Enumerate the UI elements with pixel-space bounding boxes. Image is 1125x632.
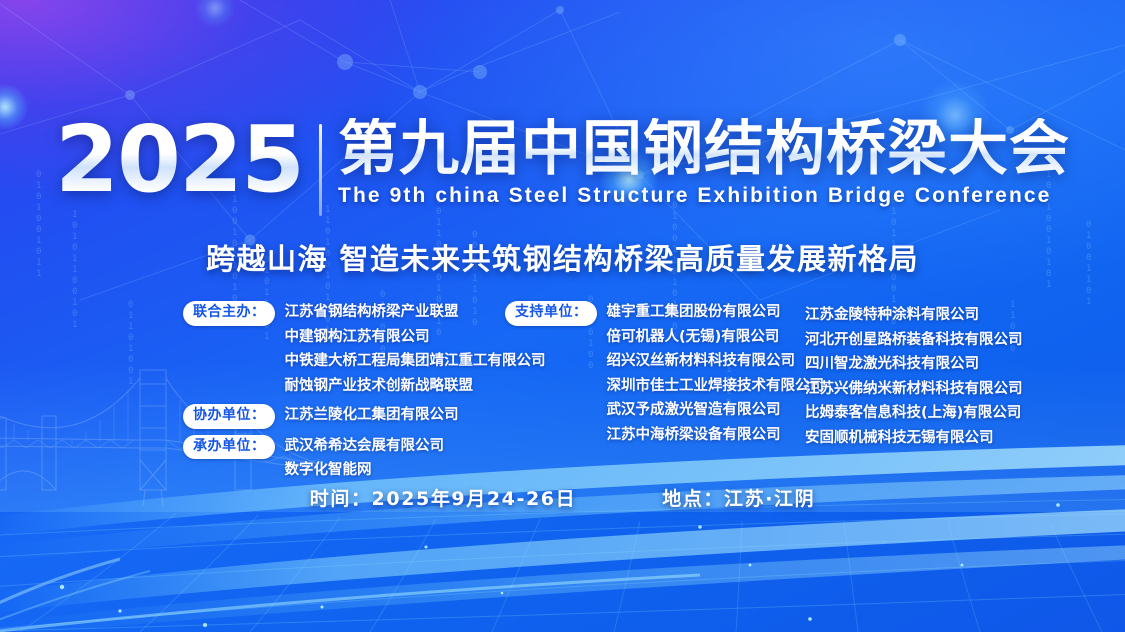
org-name: 安固顺机械科技无锡有限公司 [805,426,1033,451]
org-name: 武汉希希达会展有限公司 [285,434,445,459]
conference-banner: 0 1 0 1 0 0 1 0 1 1 1 0 1 0 1 1 0 0 1 0 … [0,0,1125,632]
supporters-column: 支持单位： 雄宇重工集团股份有限公司 倍可机器人(无锡)有限公司 绍兴汉丝新材料… [505,300,805,452]
org-name: 倍可机器人(无锡)有限公司 [607,325,825,350]
co-organizer-block: 协办单位： 江苏兰陵化工集团有限公司 [183,403,505,429]
org-name: 深圳市佳士工业焊接技术有限公司 [607,374,825,399]
co-organizer-label: 协办单位： [183,404,275,429]
org-name: 江苏兰陵化工集团有限公司 [285,403,459,428]
title-divider [319,124,322,216]
org-name: 江苏中海桥梁设备有限公司 [607,423,825,448]
undertaker-block: 承办单位： 武汉希希达会展有限公司 数字化智能网 [183,434,505,483]
title-row: 2025 第九届中国钢结构桥梁大会 The 9th china Steel St… [0,118,1125,216]
footer-info: 时间：2025年9月24-26日 地点：江苏·江阴 [0,484,1125,511]
undertaker-names: 武汉希希达会展有限公司 数字化智能网 [285,434,445,483]
org-name: 江苏金陵特种涂料有限公司 [805,303,1033,328]
org-name: 江苏兴佛纳米新材料科技有限公司 [805,377,1033,402]
org-name: 河北开创星路桥装备科技有限公司 [805,328,1033,353]
event-time: 时间：2025年9月24-26日 [310,484,576,511]
org-name: 武汉予成激光智造有限公司 [607,398,825,423]
supporters-label: 支持单位： [505,301,597,326]
org-name: 雄宇重工集团股份有限公司 [607,300,825,325]
org-name: 四川智龙激光科技有限公司 [805,352,1033,377]
supporters-block: 支持单位： 雄宇重工集团股份有限公司 倍可机器人(无锡)有限公司 绍兴汉丝新材料… [505,300,805,447]
co-organizer-names: 江苏兰陵化工集团有限公司 [285,403,459,428]
title-column: 第九届中国钢结构桥梁大会 The 9th china Steel Structu… [338,118,1070,208]
org-name: 比姆泰客信息科技(上海)有限公司 [805,401,1033,426]
org-name: 数字化智能网 [285,458,445,483]
org-name: 绍兴汉丝新材料科技有限公司 [607,349,825,374]
organizations-section: 联合主办： 江苏省钢结构桥梁产业联盟 中建钢构江苏有限公司 中铁建大桥工程局集团… [183,300,1033,488]
co-hosts-block: 联合主办： 江苏省钢结构桥梁产业联盟 中建钢构江苏有限公司 中铁建大桥工程局集团… [183,300,505,398]
supporters-names: 雄宇重工集团股份有限公司 倍可机器人(无锡)有限公司 绍兴汉丝新材料科技有限公司… [607,300,825,447]
conference-title-chinese: 第九届中国钢结构桥梁大会 [338,118,1070,180]
year-2025: 2025 [55,118,317,203]
event-location: 地点：江苏·江阴 [662,484,815,511]
conference-slogan: 跨越山海 智造未来共筑钢结构桥梁高质量发展新格局 [0,236,1125,278]
co-hosts-label: 联合主办： [183,301,275,326]
organizers-column: 联合主办： 江苏省钢结构桥梁产业联盟 中建钢构江苏有限公司 中铁建大桥工程局集团… [183,300,505,488]
supporters-extra-column: 江苏金陵特种涂料有限公司 河北开创星路桥装备科技有限公司 四川智龙激光科技有限公… [805,300,1033,450]
conference-title-english: The 9th china Steel Structure Exhibition… [338,184,1070,208]
undertaker-label: 承办单位： [183,435,275,460]
